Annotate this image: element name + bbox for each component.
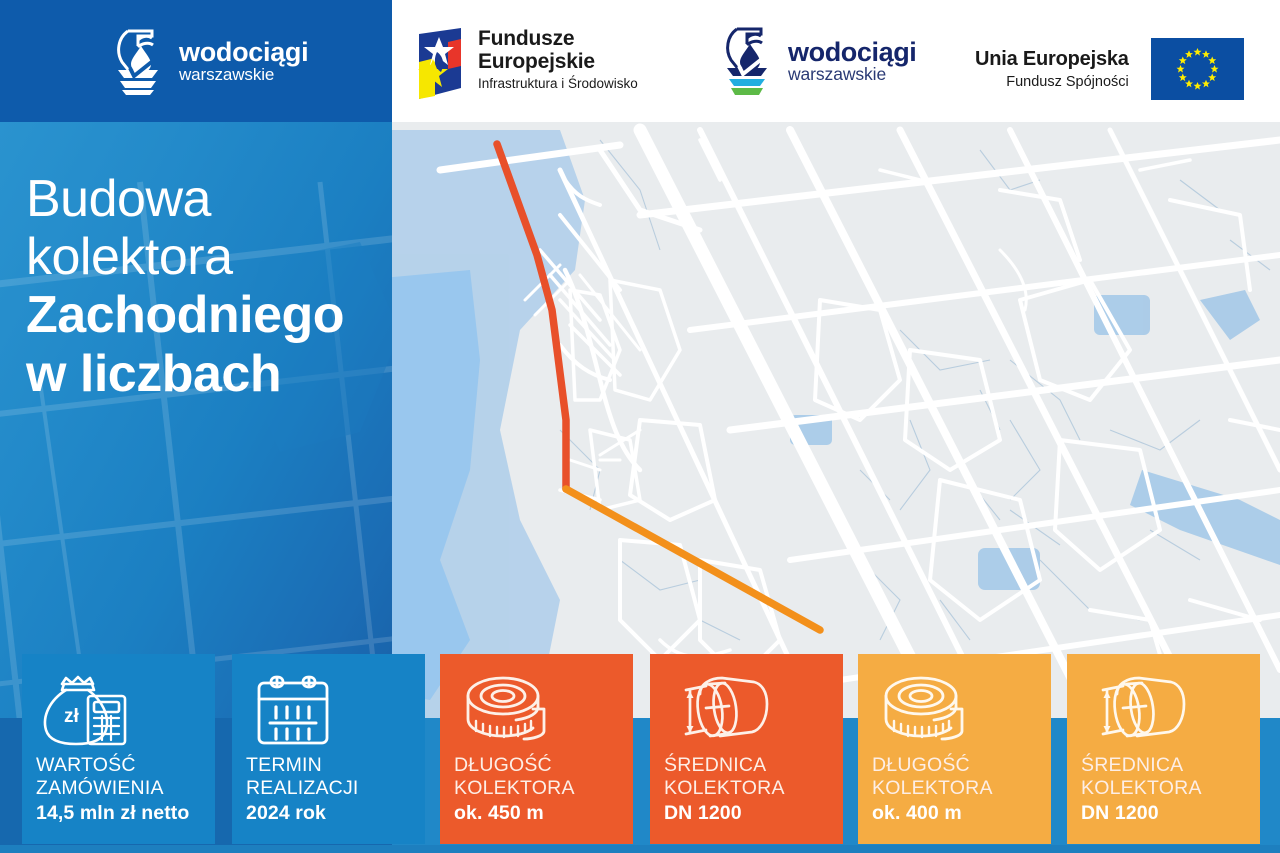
card-label-line2: KOLEKTORA	[454, 777, 619, 800]
bottom-edge-strip	[0, 845, 1280, 853]
card-label-line2: KOLEKTORA	[664, 777, 829, 800]
ue-line2: Fundusz Spójności	[975, 74, 1129, 91]
stat-card-wartosc-zamowienia[interactable]: zł WARTOŚĆ ZAMÓWIENIA 14,5 mln zł netto	[22, 654, 215, 844]
fundusze-europejskie-star-icon	[415, 26, 465, 101]
card-value: DN 1200	[664, 802, 829, 825]
pipe-diameter-icon	[1081, 670, 1246, 754]
title-line-1: Budowa	[26, 170, 386, 228]
card-label-line2: REALIZACJI	[246, 777, 411, 800]
tape-measure-icon	[454, 670, 619, 754]
stat-card-srednica-kolektora-dn1200-a[interactable]: ŚREDNICA KOLEKTORA DN 1200	[650, 654, 843, 844]
brand-wordmark-line1: wodociągi	[179, 37, 308, 67]
pipe-diameter-icon	[664, 670, 829, 754]
page-title: Budowa kolektora Zachodniego w liczbach	[26, 170, 386, 403]
card-value: ok. 450 m	[454, 802, 619, 825]
card-label-line1: WARTOŚĆ	[36, 754, 201, 777]
fe-line1: Fundusze	[478, 28, 638, 51]
card-label-line2: KOLEKTORA	[872, 777, 1037, 800]
calendar-icon	[246, 670, 411, 754]
card-value: 14,5 mln zł netto	[36, 802, 201, 825]
card-value: 2024 rok	[246, 802, 411, 825]
stat-card-dlugosc-kolektora-400[interactable]: DŁUGOŚĆ KOLEKTORA ok. 400 m	[858, 654, 1051, 844]
title-line-3: Zachodniego	[26, 286, 386, 344]
fundusze-europejskie-logo[interactable]: Fundusze Europejskie Infrastruktura i Śr…	[415, 26, 638, 101]
ue-line1: Unia Europejska	[975, 48, 1129, 71]
tape-measure-icon	[872, 670, 1037, 754]
card-label-line1: ŚREDNICA	[1081, 754, 1246, 777]
svg-text:zł: zł	[64, 706, 80, 727]
stat-card-dlugosc-kolektora-450[interactable]: DŁUGOŚĆ KOLEKTORA ok. 450 m	[440, 654, 633, 844]
ww-color-line1: wodociągi	[788, 37, 916, 67]
unia-europejska-logo[interactable]: Unia Europejska Fundusz Spójności	[975, 38, 1244, 100]
card-label-line1: DŁUGOŚĆ	[872, 754, 1037, 777]
fe-line2: Europejskie	[478, 51, 638, 74]
ww-color-line2: warszawskie	[788, 64, 886, 84]
infographic-root: Budowa kolektora Zachodniego w liczbach	[0, 0, 1280, 853]
card-label-line1: TERMIN	[246, 754, 411, 777]
wodociagi-warszawskie-color-logo-icon	[718, 25, 776, 97]
wodociagi-warszawskie-logo-icon	[108, 26, 168, 96]
card-value: ok. 400 m	[872, 802, 1037, 825]
money-bag-calculator-icon: zł	[36, 670, 201, 754]
stat-card-termin-realizacji[interactable]: TERMIN REALIZACJI 2024 rok	[232, 654, 425, 844]
fe-line3: Infrastruktura i Środowisko	[478, 77, 638, 92]
wodociagi-warszawskie-logo[interactable]: wodociągi warszawskie	[108, 26, 308, 96]
title-line-2: kolektora	[26, 228, 386, 286]
fundusze-europejskie-wordmark: Fundusze Europejskie Infrastruktura i Śr…	[478, 26, 638, 92]
card-label-line1: ŚREDNICA	[664, 754, 829, 777]
card-label-line1: DŁUGOŚĆ	[454, 754, 619, 777]
ww-color-wordmark: wodociągi warszawskie	[788, 39, 916, 84]
stat-card-srednica-kolektora-dn1200-b[interactable]: ŚREDNICA KOLEKTORA DN 1200	[1067, 654, 1260, 844]
ue-wordmark: Unia Europejska Fundusz Spójności	[975, 48, 1129, 91]
eu-flag-icon	[1151, 38, 1244, 100]
card-value: DN 1200	[1081, 802, 1246, 825]
card-label-line2: KOLEKTORA	[1081, 777, 1246, 800]
card-label-line2: ZAMÓWIENIA	[36, 777, 201, 800]
brand-wordmark: wodociągi warszawskie	[179, 39, 308, 84]
wodociagi-warszawskie-color-logo[interactable]: wodociągi warszawskie	[718, 25, 916, 97]
title-line-4: w liczbach	[26, 345, 386, 403]
brand-wordmark-line2: warszawskie	[179, 65, 274, 84]
